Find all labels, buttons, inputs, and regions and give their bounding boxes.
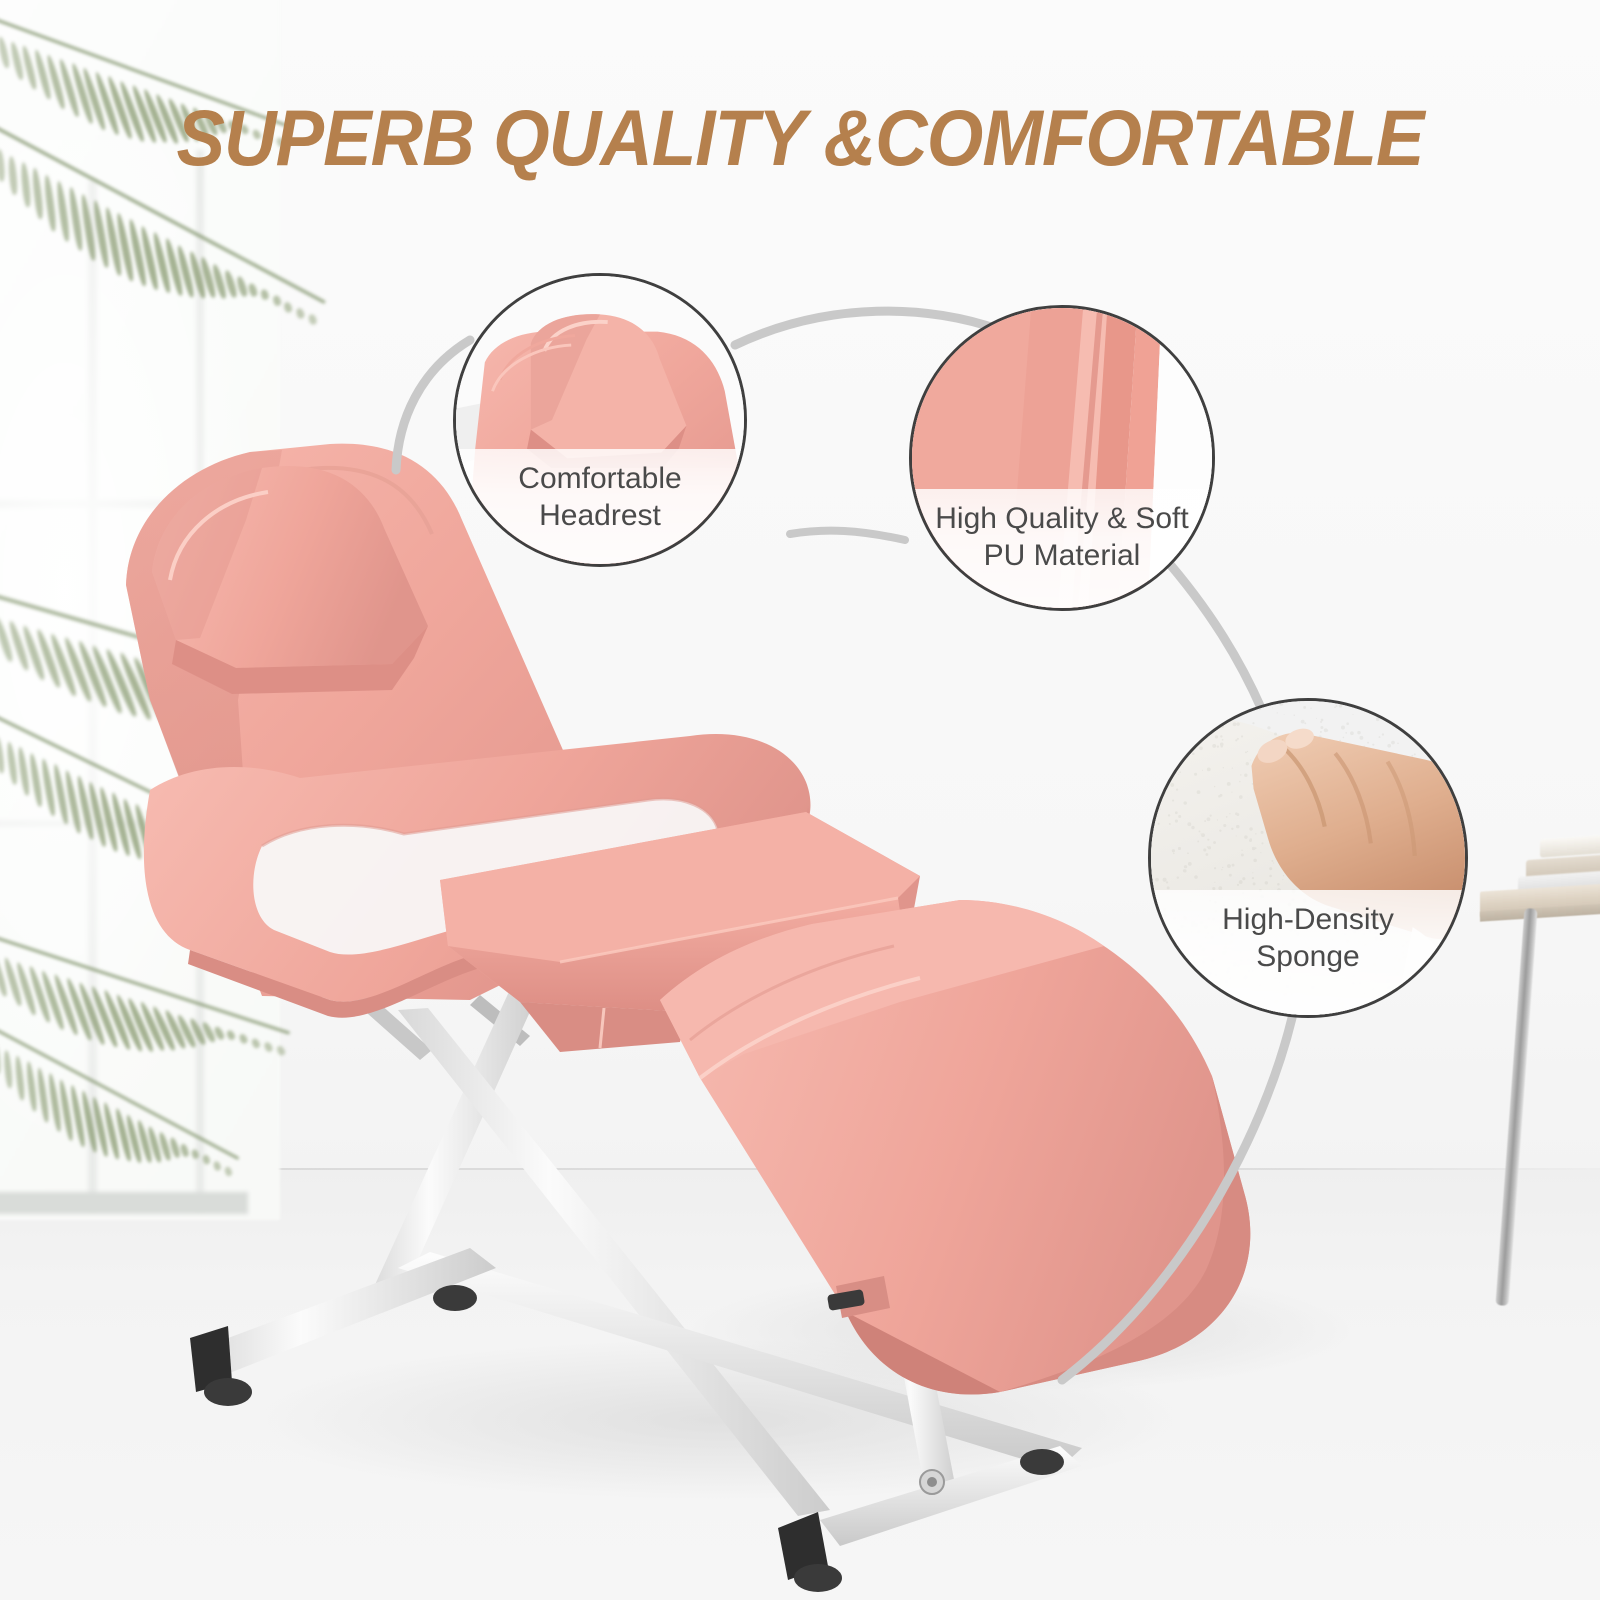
callout-label: High Quality & Soft PU Material: [912, 489, 1212, 608]
callout-label-line2: Sponge: [1159, 939, 1457, 976]
callout-label: Comfortable Headrest: [456, 449, 744, 564]
callout-label-line1: Comfortable: [464, 461, 736, 498]
product-marketing-image: SUPERB QUALITY &COMFORTABLE: [0, 0, 1600, 1600]
callout-label-line1: High Quality & Soft: [920, 501, 1204, 538]
callout-high-density-sponge[interactable]: High-Density Sponge: [1148, 698, 1468, 1018]
callout-label: High-Density Sponge: [1151, 890, 1465, 1015]
callout-label-line1: High-Density: [1159, 902, 1457, 939]
callout-label-line2: Headrest: [464, 498, 736, 535]
callout-label-line2: PU Material: [920, 538, 1204, 575]
callout-high-quality-soft-pu-material[interactable]: High Quality & Soft PU Material: [909, 305, 1215, 611]
callout-comfortable-headrest[interactable]: Comfortable Headrest: [453, 273, 747, 567]
